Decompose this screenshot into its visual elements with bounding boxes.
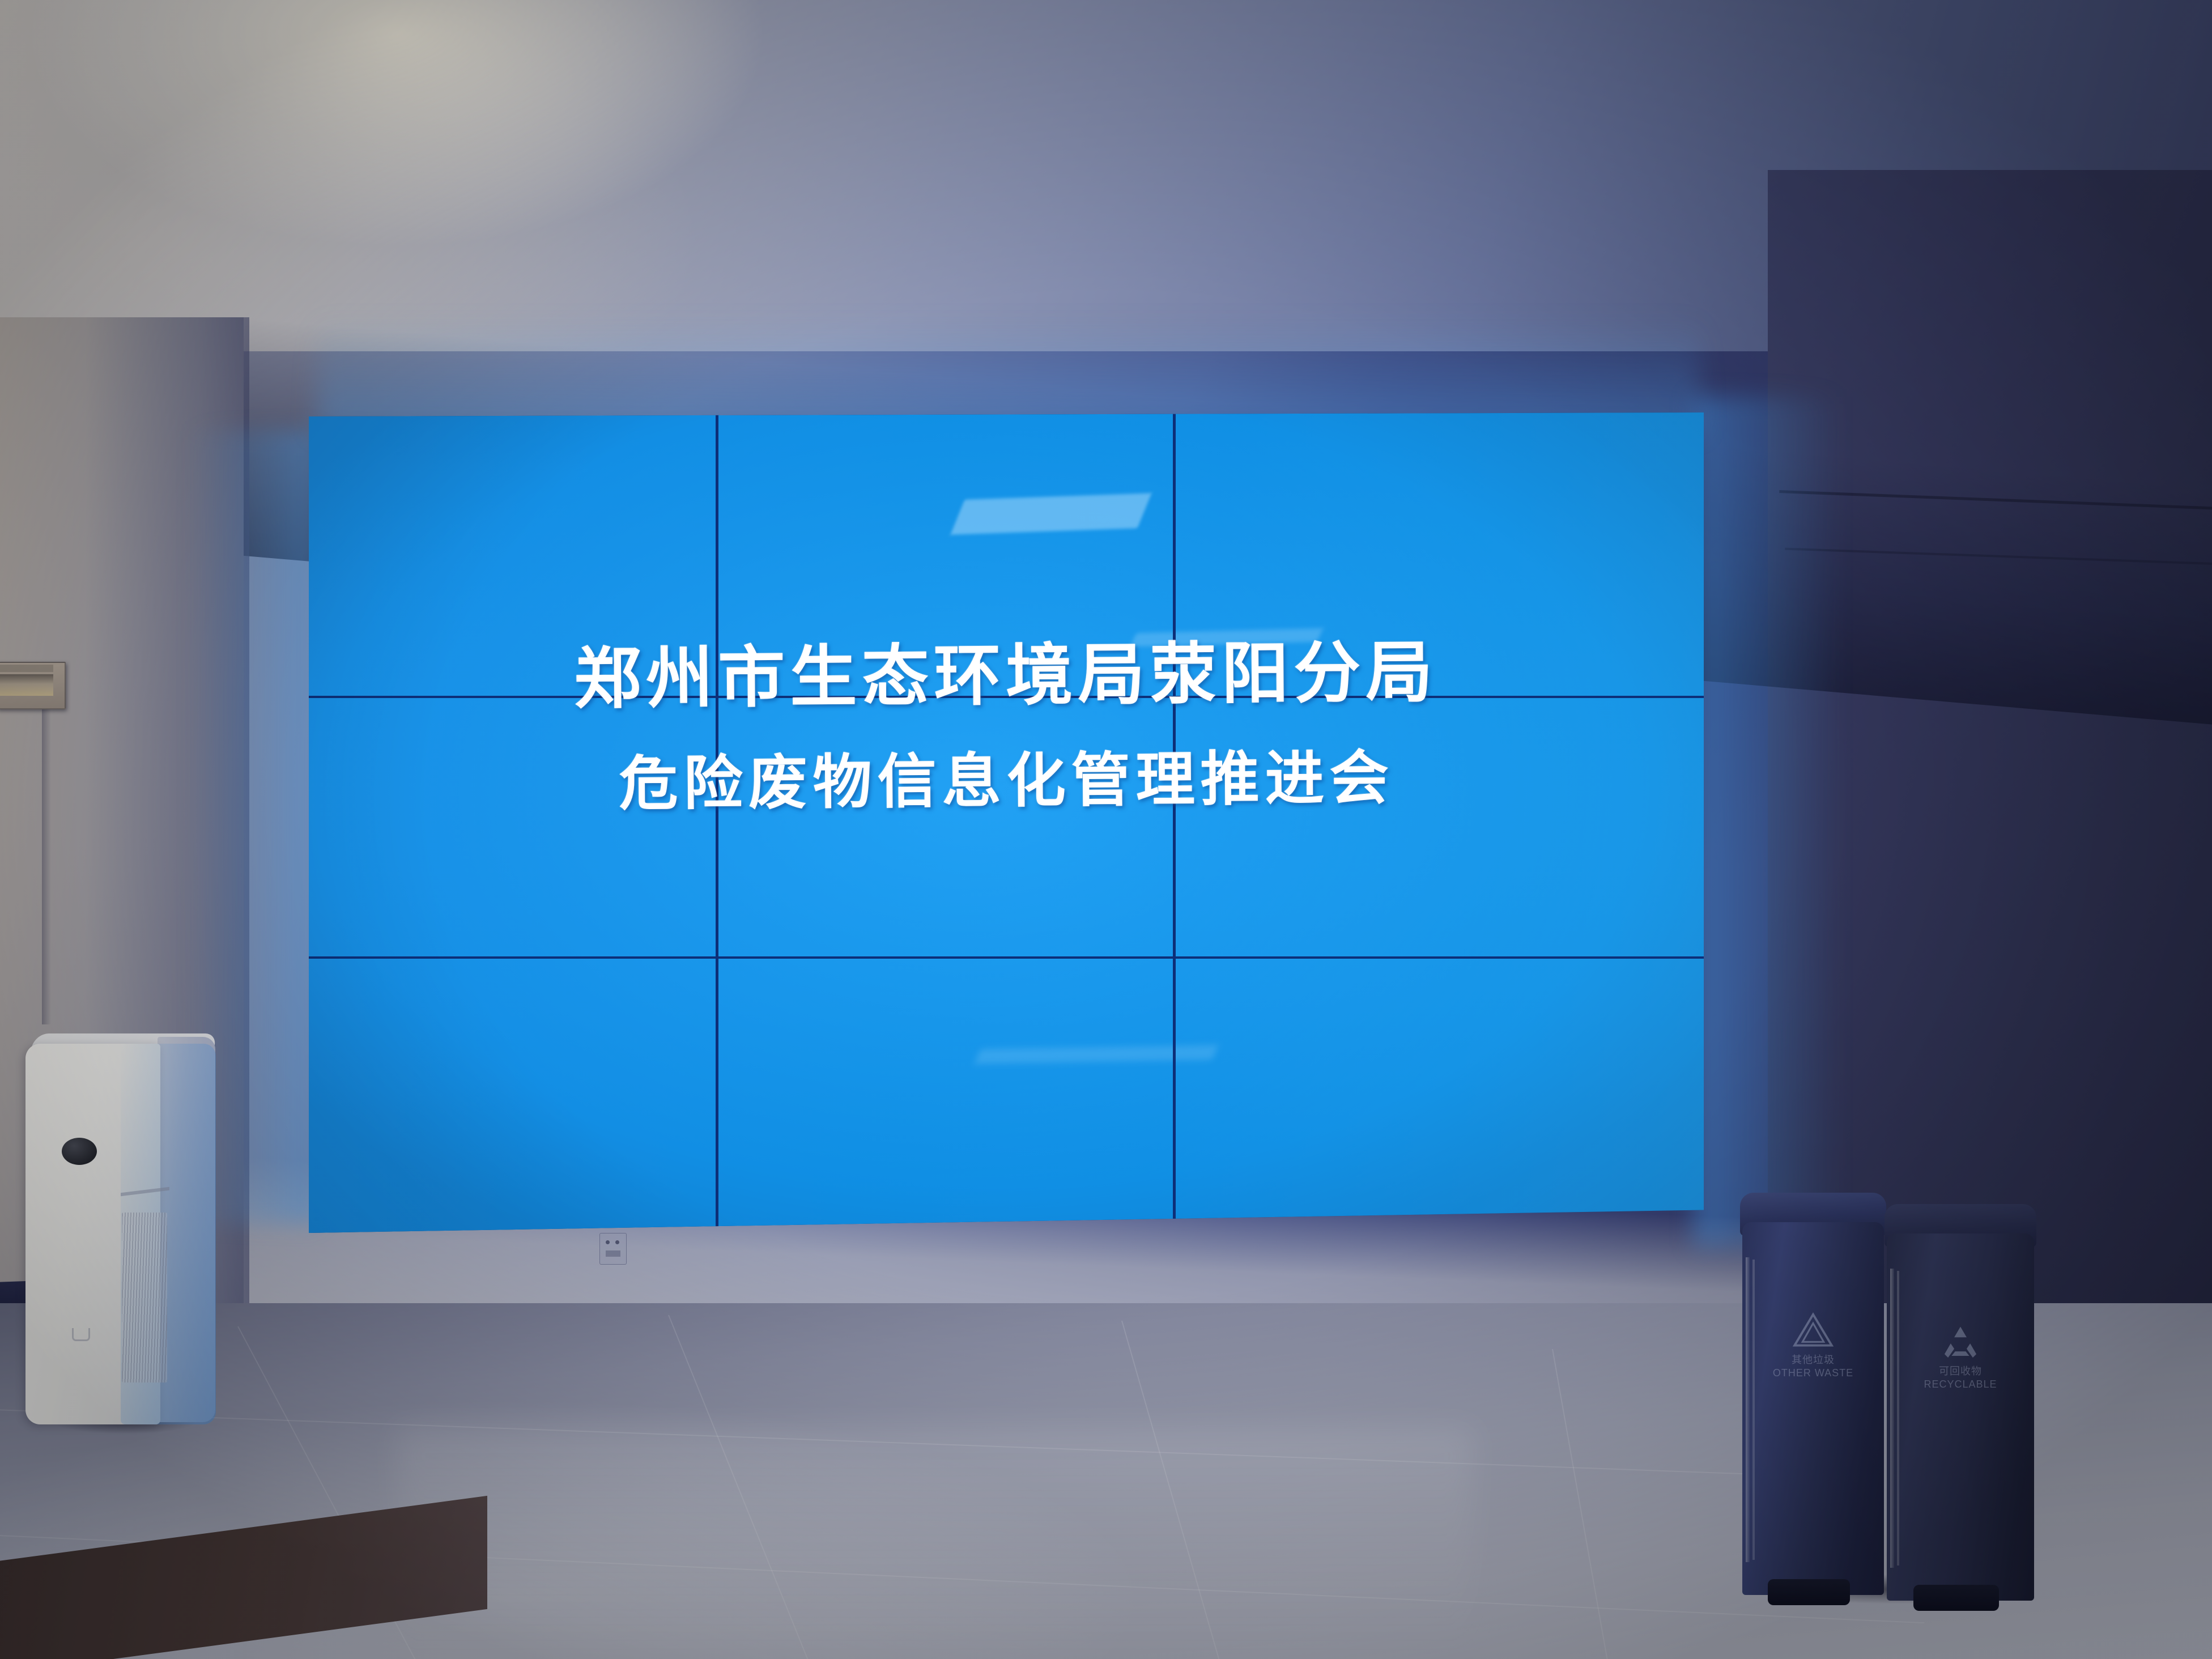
outlet-socket-slot xyxy=(606,1250,620,1257)
outlet-hole-right xyxy=(615,1240,619,1244)
panel-bezel-vertical-1 xyxy=(716,412,718,1233)
electrical-panel-shadow xyxy=(42,707,51,1024)
electrical-panel-window xyxy=(0,674,53,696)
slide-title-line1: 郑州市生态环境局荥阳分局 xyxy=(308,636,1704,714)
photo-scene: 郑州市生态环境局荥阳分局 危险废物信息化管理推进会 xyxy=(0,0,2212,1659)
trash-bin-other-waste[interactable]: 其他垃圾 OTHER WASTE xyxy=(1742,1193,1884,1595)
slide-text-block: 郑州市生态环境局荥阳分局 危险废物信息化管理推进会 xyxy=(308,636,1704,815)
trash-bin-label: 其他垃圾 OTHER WASTE xyxy=(1771,1354,1856,1379)
ceiling-light-reflection xyxy=(950,493,1151,535)
electrical-panel-label xyxy=(0,665,53,672)
trash-bin-foot-pedal[interactable] xyxy=(1913,1585,1999,1611)
trash-bin-label-cn: 其他垃圾 xyxy=(1771,1354,1856,1367)
trash-bin-recyclable[interactable]: 可回收物 RECYCLABLE xyxy=(1887,1204,2034,1601)
trash-bin-label-en: RECYCLABLE xyxy=(1918,1378,2003,1391)
trash-bin-edge-highlight-secondary xyxy=(1752,1260,1755,1560)
trash-bin-edge-highlight xyxy=(1746,1257,1750,1562)
outlet-hole-left xyxy=(606,1240,610,1244)
screen-glow-right xyxy=(1694,397,1841,1247)
trash-bin-edge-highlight-secondary xyxy=(1897,1271,1899,1566)
floor-grout-line xyxy=(1552,1349,1614,1659)
air-purifier-brand-logo xyxy=(72,1328,90,1341)
other-waste-icon xyxy=(1791,1312,1835,1349)
panel-bezel-vertical-2 xyxy=(1173,412,1176,1233)
video-wall-vignette xyxy=(309,412,1704,1233)
floor-specular-sheen xyxy=(397,1428,1473,1659)
trash-bin-label-en: OTHER WASTE xyxy=(1771,1367,1856,1380)
electrical-panel[interactable] xyxy=(0,662,66,709)
air-purifier-control-knob[interactable] xyxy=(62,1138,97,1165)
air-purifier[interactable] xyxy=(25,1026,215,1428)
trash-bin-body: 其他垃圾 OTHER WASTE xyxy=(1742,1222,1884,1595)
wall-outlet[interactable] xyxy=(599,1233,627,1265)
panel-bezel-horizontal-2 xyxy=(309,956,1704,959)
trash-bin-foot-pedal[interactable] xyxy=(1768,1579,1850,1605)
trash-bin-edge-highlight xyxy=(1890,1269,1894,1568)
trash-bin-body: 可回收物 RECYCLABLE xyxy=(1887,1233,2034,1601)
trash-bin-label: 可回收物 RECYCLABLE xyxy=(1918,1365,2003,1390)
recycle-icon xyxy=(1938,1323,1983,1360)
air-purifier-air-grille xyxy=(122,1213,167,1382)
trash-bin-label-cn: 可回收物 xyxy=(1918,1365,2003,1378)
video-wall[interactable]: 郑州市生态环境局荥阳分局 危险废物信息化管理推进会 xyxy=(309,412,1704,1233)
slide-title-line2: 危险废物信息化管理推进会 xyxy=(309,746,1704,815)
